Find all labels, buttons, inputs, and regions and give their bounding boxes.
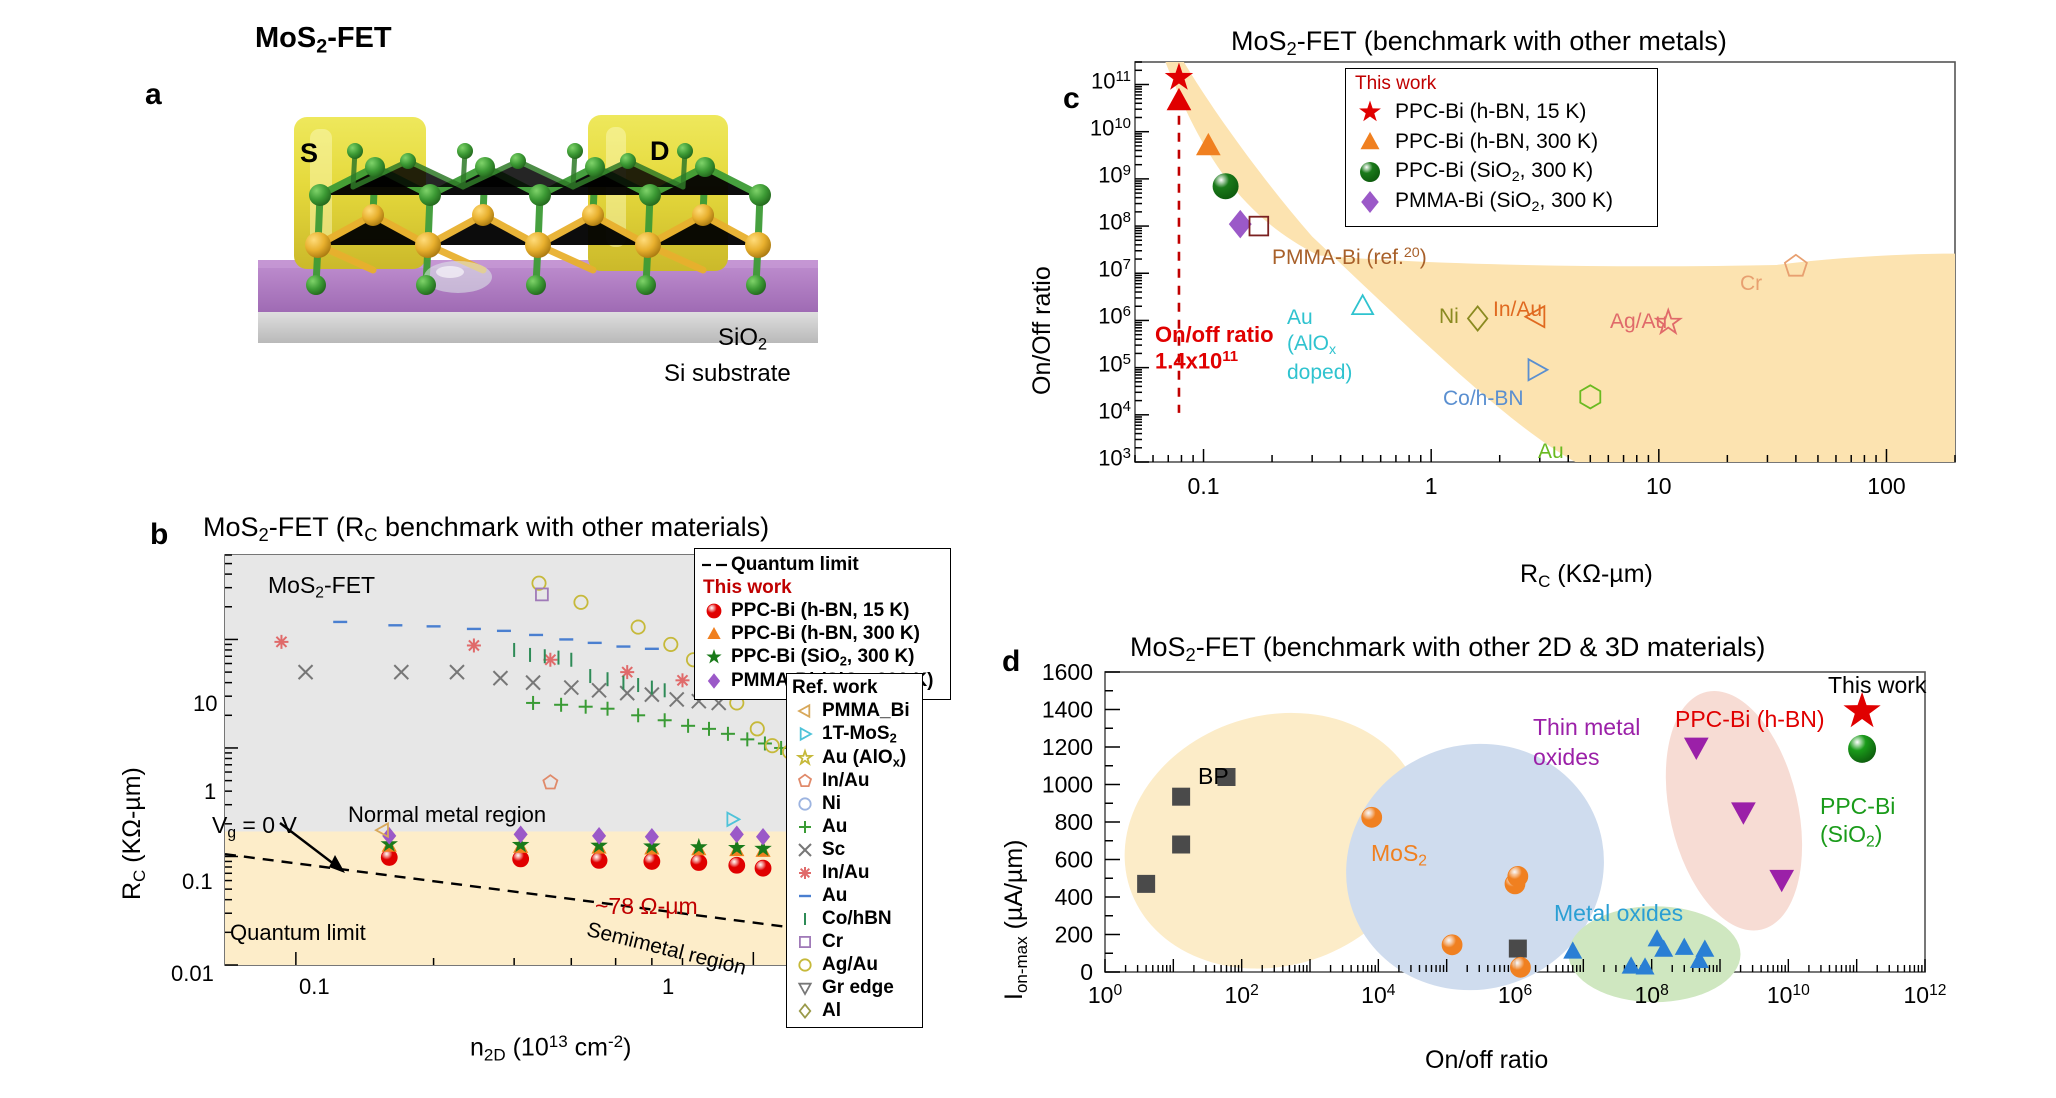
label-in-au: In/Au: [1493, 298, 1542, 322]
legend-item-label: PPC-Bi (h-BN, 300 K): [731, 623, 920, 645]
legend-item-label: Cr: [822, 931, 843, 953]
data-point: [1362, 807, 1382, 827]
panel-b-ytick: 0.01: [171, 961, 214, 987]
panel-d-ytick: 1600: [1042, 659, 1093, 685]
label-au-alox: Au (AlOx doped): [1287, 305, 1352, 386]
panel-b-xtick: 1: [662, 974, 674, 1000]
legend-item-label: Gr edge: [822, 977, 894, 999]
data-point: [1848, 735, 1876, 763]
annotation-vg: Vg = 0 V: [212, 812, 297, 842]
annotation-quantum-limit: Quantum limit: [230, 920, 366, 946]
triangle-icon: [1353, 129, 1395, 155]
data-point: [1510, 957, 1530, 977]
plus-icon: [792, 816, 822, 838]
vline-icon: [792, 908, 822, 930]
hline-icon: [792, 885, 822, 907]
panel-b-letter: b: [150, 518, 168, 552]
legend-item-label: Co/hBN: [822, 908, 892, 930]
panel-a-title: MoS2-FET: [255, 22, 392, 59]
legend-item: 1T-MoS2: [792, 723, 918, 746]
label-au-alox-l1: Au: [1287, 305, 1352, 331]
panel-d-ytick: 1400: [1042, 697, 1093, 723]
sphere-icon: [1353, 159, 1395, 185]
data-point: [1509, 940, 1527, 958]
label-ni: Ni: [1439, 305, 1459, 329]
substrate-label: Si substrate: [664, 360, 791, 388]
data-point: [675, 673, 689, 687]
legend-item: In/Au: [792, 770, 918, 792]
panel-d-xlabel: On/off ratio: [1425, 1046, 1548, 1075]
data-point: [1137, 875, 1155, 893]
label-pmma-bi-ref: PMMA-Bi (ref.20): [1272, 245, 1427, 270]
label-ag-au: Ag/Au: [1610, 310, 1667, 334]
legend-item-label: PPC-Bi (h-BN, 300 K): [1395, 130, 1598, 154]
panel-c-ytick: 109: [1049, 162, 1131, 188]
legend-item: Au: [792, 885, 918, 907]
data-point: [274, 635, 288, 649]
panel-d-ytick: 1000: [1042, 772, 1093, 798]
panel-d-xtick: 1010: [1742, 982, 1834, 1009]
legend-item: Gr edge: [792, 977, 918, 999]
panel-c-ytick: 104: [1049, 398, 1131, 424]
legend-item-label: Ni: [822, 793, 841, 815]
annotation-onoff-line2: 1.4x1011: [1155, 348, 1274, 374]
label-cr: Cr: [1740, 272, 1762, 296]
legend-item-label: Au: [822, 816, 847, 838]
panel-b-inside-label: MoS2-FET: [268, 572, 375, 602]
legend-header-c-this-work: This work: [1355, 73, 1650, 95]
label-au-alox-l2: (AlOx: [1287, 331, 1352, 360]
panel-c-title: MoS2-FET (benchmark with other metals): [1231, 26, 1727, 60]
label-bp: BP: [1198, 763, 1229, 790]
star-o-icon: [792, 747, 822, 769]
legend-item: Au (AlOx): [792, 747, 918, 770]
panel-d-xtick: 102: [1196, 982, 1288, 1009]
panel-d-xtick: 106: [1469, 982, 1561, 1009]
legend-item-label: PMMA_Bi: [822, 700, 910, 722]
data-point: [1172, 788, 1190, 806]
circle-o-icon: [792, 954, 822, 976]
legend-item: Au: [792, 816, 918, 838]
panel-c-ytick: 1011: [1049, 68, 1131, 94]
label-au-hex: Au: [1538, 440, 1564, 464]
legend-item-label: Au (AlOx): [822, 747, 906, 770]
quantum-limit-icon: [701, 560, 731, 570]
data-point: [591, 852, 607, 868]
ltriangle-icon: [792, 700, 822, 722]
label-this-work-d: This work: [1828, 672, 1926, 699]
legend-item-label: PMMA-Bi (SiO2, 300 K): [1395, 189, 1613, 215]
star-icon: [1353, 99, 1395, 125]
legend-item-label: PPC-Bi (h-BN, 15 K): [731, 600, 909, 622]
electrode-label-drain: D: [650, 136, 670, 167]
panel-c-ytick: 103: [1049, 445, 1131, 471]
legend-item-label: 1T-MoS2: [822, 723, 897, 746]
legend-item: Cr: [792, 931, 918, 953]
legend-item: PPC-Bi (h-BN, 300 K): [1353, 129, 1650, 155]
legend-header-ref-work: Ref. work: [792, 677, 918, 699]
panel-d-xtick: 100: [1059, 982, 1151, 1009]
legend-item: PPC-Bi (SiO2, 300 K): [1353, 159, 1650, 185]
legend-item: PMMA-Bi (SiO2, 300 K): [1353, 189, 1650, 215]
panel-c-ytick: 107: [1049, 256, 1131, 282]
legend-item-label: Al: [822, 1000, 841, 1022]
legend-item: Sc: [792, 839, 918, 861]
data-point: [1508, 866, 1528, 886]
circle-icon: [701, 600, 731, 622]
label-au-alox-l3: doped): [1287, 360, 1352, 386]
data-point: [467, 638, 481, 652]
panel-c-legend: This work PPC-Bi (h-BN, 15 K)PPC-Bi (h-B…: [1345, 68, 1658, 227]
triangle-icon: [701, 623, 731, 645]
panel-d-ytick: 400: [1055, 884, 1093, 910]
legend-item: PPC-Bi (h-BN, 300 K): [701, 623, 944, 645]
panel-b-ytick: 0.1: [182, 869, 213, 895]
data-point: [1172, 836, 1190, 854]
legend-header-this-work: This work: [703, 577, 944, 599]
label-mos2-d: MoS2: [1371, 840, 1427, 870]
dtriangle-icon: [792, 977, 822, 999]
panel-c-xtick: 10: [1646, 473, 1672, 499]
panel-d-xtick: 1012: [1879, 982, 1971, 1009]
data-point: [691, 855, 707, 871]
legend-item: Ag/Au: [792, 954, 918, 976]
data-point: [1213, 173, 1239, 199]
legend-item-label: In/Au: [822, 862, 870, 884]
legend-item-label: In/Au: [822, 770, 870, 792]
legend-label-quantum-limit: Quantum limit: [731, 554, 859, 576]
label-ppc-bi-sio2-l1: PPC-Bi: [1820, 792, 1895, 820]
square-o-icon: [792, 931, 822, 953]
asterisk-icon: [792, 862, 822, 884]
annotation-normal-metal: Normal metal region: [348, 802, 546, 828]
diamond-o-icon: [792, 1000, 822, 1022]
annotation-value: ~78 Ω-μm: [595, 893, 698, 920]
label-co-hbn: Co/h-BN: [1443, 387, 1524, 411]
annotation-onoff-ratio: On/off ratio 1.4x1011: [1155, 322, 1274, 374]
panel-c-xtick: 0.1: [1188, 473, 1220, 499]
panel-b-xlabel: n2D (1013 cm-2): [470, 1032, 631, 1065]
legend-item: PPC-Bi (SiO2, 300 K): [701, 646, 944, 669]
data-point: [755, 860, 771, 876]
legend-item: PPC-Bi (h-BN, 15 K): [1353, 99, 1650, 125]
legend-item-label: PPC-Bi (SiO2, 300 K): [1395, 159, 1593, 185]
legend-item: Al: [792, 1000, 918, 1022]
label-thin-metal-l1: Thin metal: [1533, 713, 1640, 743]
panel-d-xtick: 108: [1606, 982, 1698, 1009]
diamond-icon: [701, 670, 731, 692]
panel-d-ytick: 200: [1055, 922, 1093, 948]
panel-b-xtick: 0.1: [299, 974, 330, 1000]
panel-d-title: MoS2-FET (benchmark with other 2D & 3D m…: [1130, 632, 1765, 666]
oxide-label: SiO2: [718, 324, 767, 355]
panel-b-title: MoS2-FET (RC benchmark with other materi…: [203, 512, 769, 546]
label-thin-metal-l2: oxides: [1533, 743, 1640, 773]
panel-d-ytick: 1200: [1042, 734, 1093, 760]
legend-item-label: Ag/Au: [822, 954, 878, 976]
star-icon: [701, 646, 731, 668]
panel-d-xtick: 104: [1332, 982, 1424, 1009]
data-point: [1442, 935, 1462, 955]
panel-d-ytick: 600: [1055, 847, 1093, 873]
panel-c-ytick: 108: [1049, 209, 1131, 235]
panel-c-ytick: 105: [1049, 351, 1131, 377]
data-point: [381, 849, 397, 865]
legend-item: In/Au: [792, 862, 918, 884]
label-ppc-bi-sio2-l2: (SiO2): [1820, 820, 1895, 851]
rtriangle-icon: [792, 723, 822, 745]
legend-item: PPC-Bi (h-BN, 15 K): [701, 600, 944, 622]
panel-a-letter: a: [145, 78, 162, 112]
data-point: [729, 857, 745, 873]
panel-c-xlabel: RC (KΩ-µm): [1520, 560, 1653, 592]
legend-item-label: Sc: [822, 839, 845, 861]
panel-c-xtick: 100: [1867, 473, 1905, 499]
data-point: [644, 853, 660, 869]
diamond-icon: [1353, 189, 1395, 215]
panel-b-ytick: 10: [193, 691, 217, 717]
panel-c-ytick: 1010: [1049, 115, 1131, 141]
panel-d-letter: d: [1002, 645, 1020, 679]
label-metal-oxides: Metal oxides: [1554, 900, 1683, 927]
legend-item-label: Au: [822, 885, 847, 907]
annotation-onoff-line1: On/off ratio: [1155, 322, 1274, 348]
panel-d-ytick: 800: [1055, 809, 1093, 835]
legend-item: Ni: [792, 793, 918, 815]
cross-icon: [792, 839, 822, 861]
circle-o-icon: [792, 793, 822, 815]
panel-c-ytick: 106: [1049, 303, 1131, 329]
panel-c-xtick: 1: [1425, 473, 1438, 499]
legend-item: PMMA_Bi: [792, 700, 918, 722]
label-ppc-bi-hbn-d: PPC-Bi (h-BN): [1675, 706, 1825, 733]
data-point: [513, 851, 529, 867]
legend-item-label: PPC-Bi (h-BN, 15 K): [1395, 100, 1586, 124]
data-point: [620, 665, 634, 679]
electrode-label-source: S: [300, 138, 318, 169]
panel-b-legend-ref-work: Ref. work PMMA_Bi1T-MoS2Au (AlOx)In/AuNi…: [786, 673, 923, 1028]
panel-b-ytick: 1: [204, 779, 216, 805]
pentagon-icon: [792, 770, 822, 792]
label-thin-metal-oxides: Thin metal oxides: [1533, 713, 1640, 773]
legend-item: Co/hBN: [792, 908, 918, 930]
label-ppc-bi-sio2-d: PPC-Bi (SiO2): [1820, 792, 1895, 852]
legend-item-label: PPC-Bi (SiO2, 300 K): [731, 646, 915, 669]
